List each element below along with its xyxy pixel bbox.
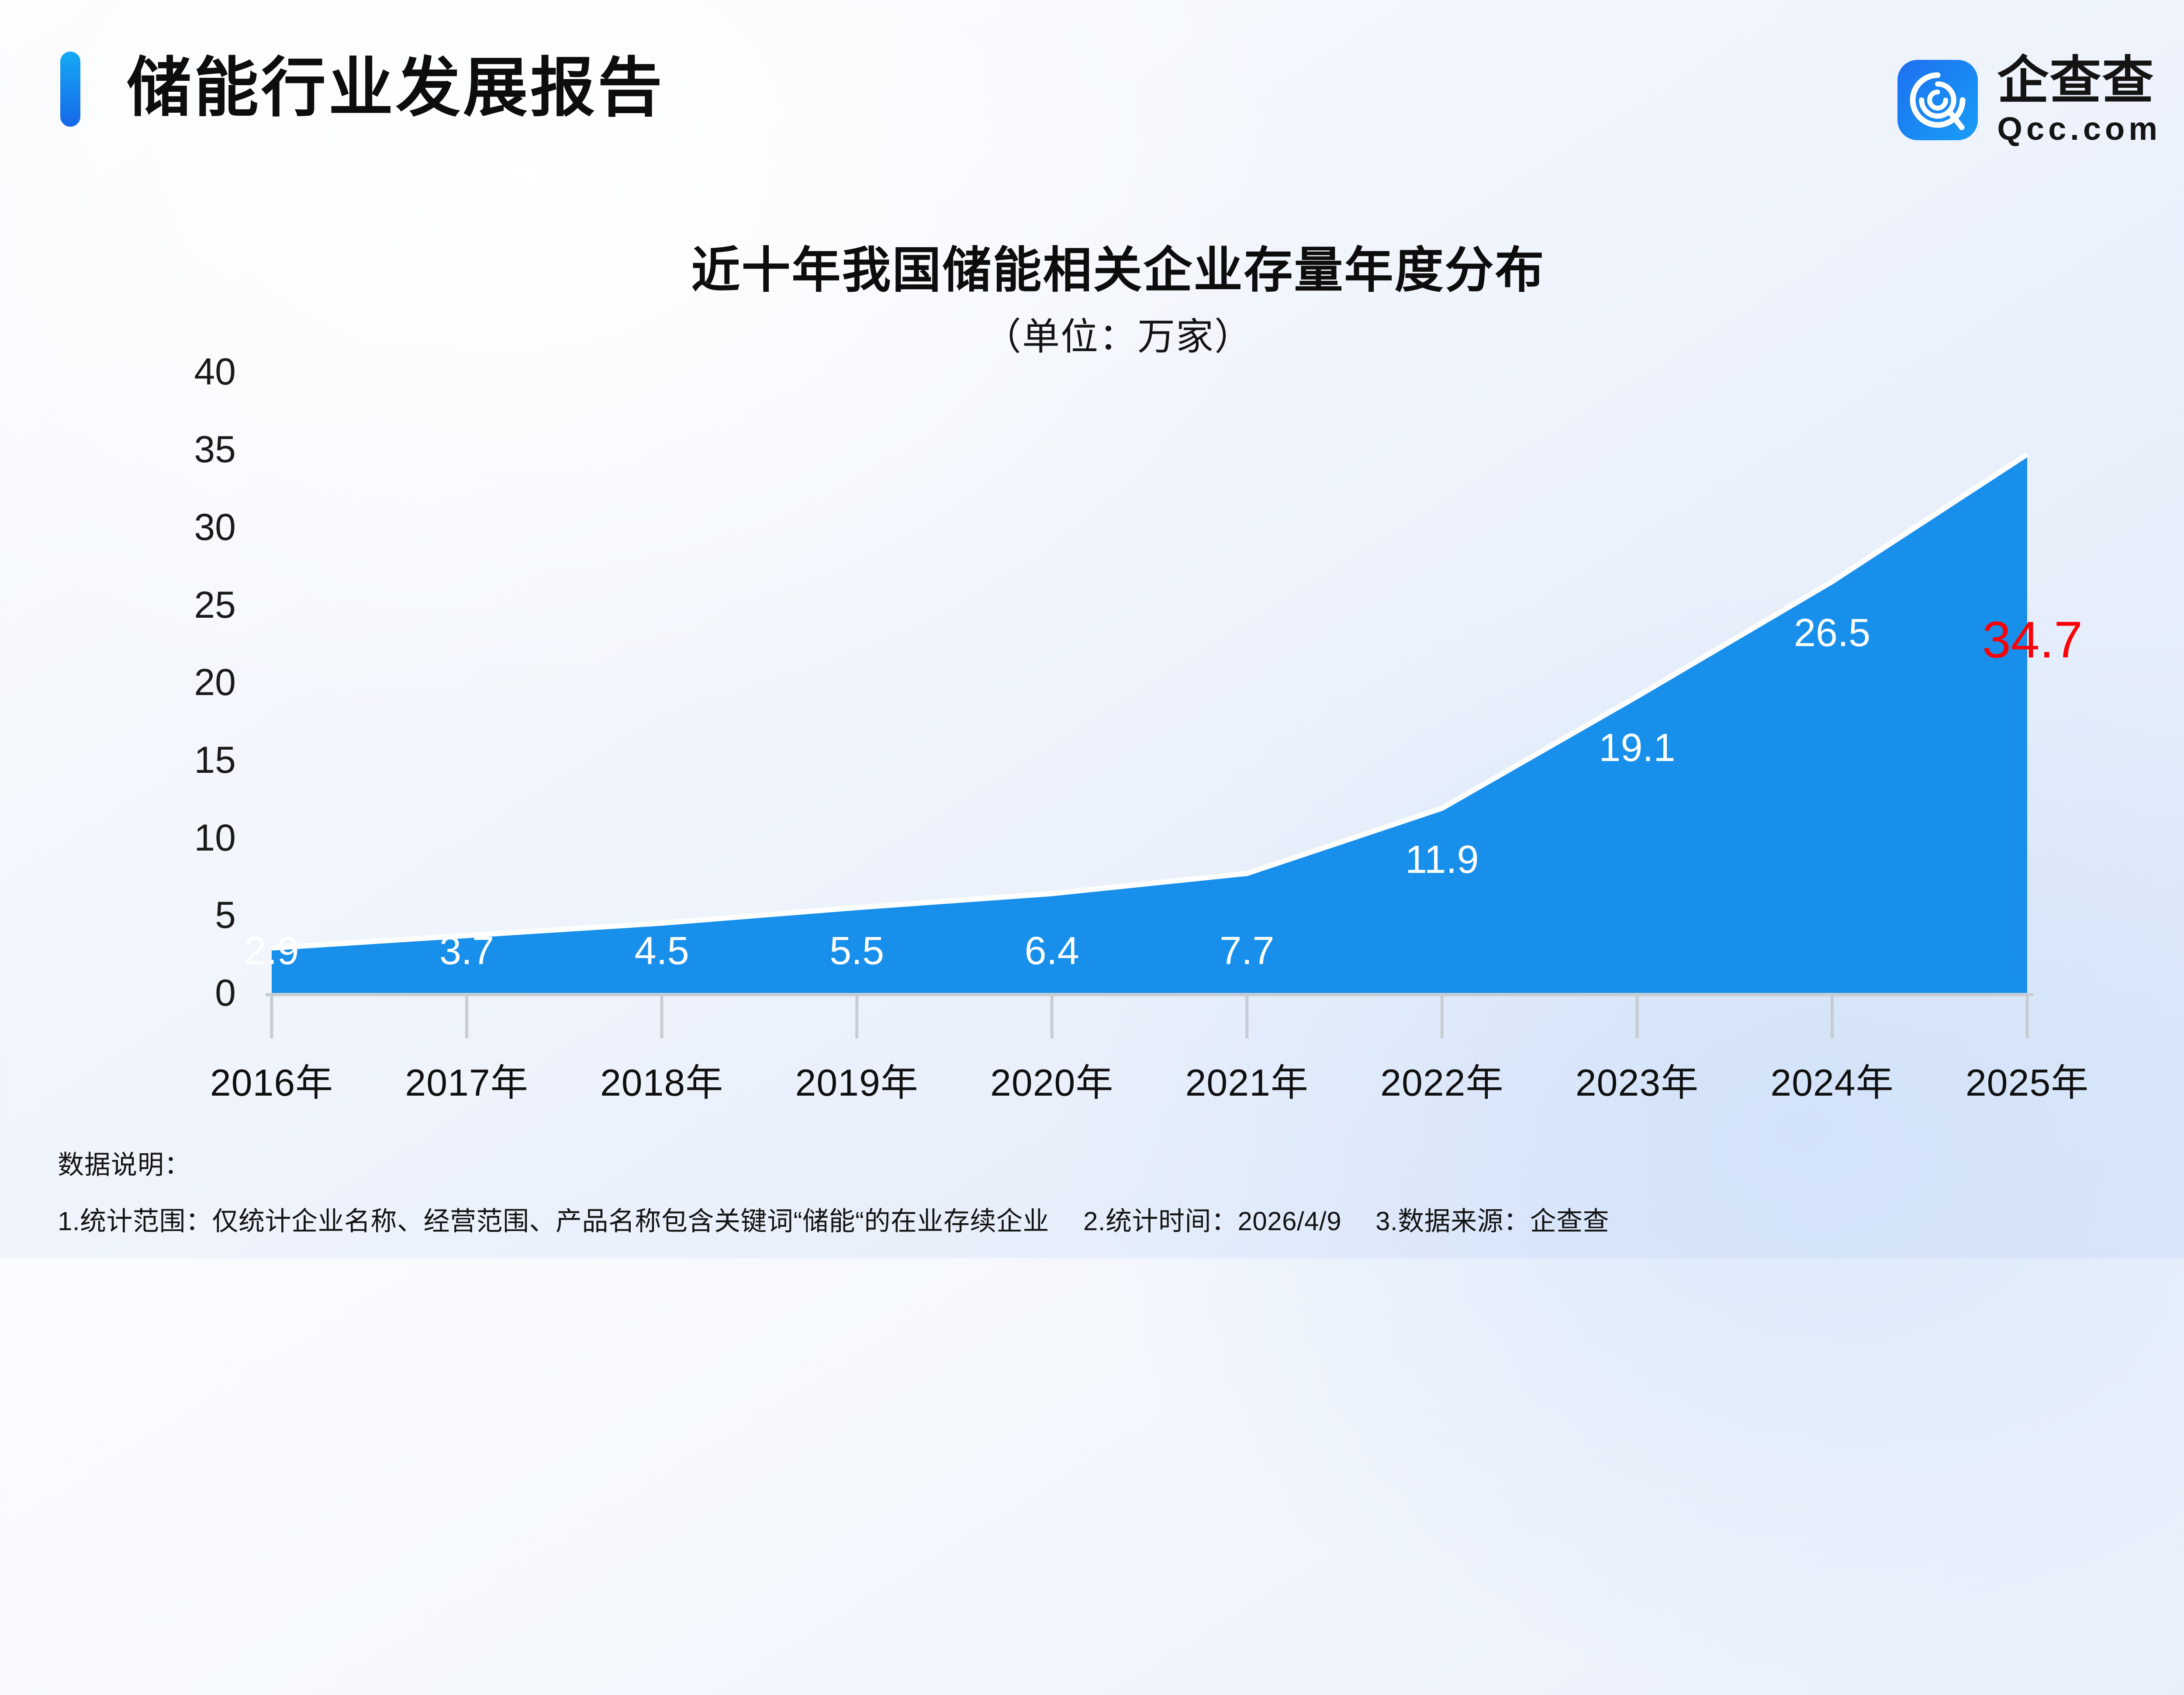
y-axis-tick-label: 25	[135, 586, 236, 624]
data-label: 7.7	[1155, 931, 1339, 971]
area-chart: 0510152025303540 2016年2017年2018年2019年202…	[0, 358, 2184, 1101]
y-axis-tick-label: 0	[135, 974, 236, 1012]
data-label: 5.5	[765, 931, 949, 971]
x-axis-tick-label: 2019年	[757, 1052, 957, 1107]
axis-ticks	[266, 995, 2033, 1038]
x-axis-tick-label: 2025年	[1927, 1052, 2128, 1107]
footer-note-3: 3.数据来源：企查查	[1375, 1207, 1609, 1236]
y-axis-tick-label: 15	[135, 741, 236, 779]
page-title: 储能行业发展报告	[127, 49, 665, 128]
y-axis-tick-label: 20	[135, 664, 236, 701]
logo-cn-name: 企查查	[1997, 55, 2161, 107]
x-axis-tick-label: 2016年	[171, 1052, 372, 1107]
qcc-spiral-icon	[1897, 60, 1978, 140]
data-label: 6.4	[960, 931, 1144, 971]
x-axis-tick-label: 2018年	[561, 1052, 762, 1107]
data-label: 26.5	[1740, 613, 1924, 653]
area-fill	[272, 454, 2027, 993]
footer-heading: 数据说明：	[58, 1144, 2184, 1182]
x-axis-tick-label: 2021年	[1147, 1052, 1348, 1107]
footer-note-1: 1.统计范围：仅统计企业名称、经营范围、产品名称包含关键词“储能“的在业存续企业	[58, 1207, 1049, 1236]
data-label: 19.1	[1545, 728, 1729, 768]
x-axis-tick-label: 2024年	[1731, 1052, 1932, 1107]
x-axis-tick-label: 2022年	[1341, 1052, 1542, 1107]
chart-canvas	[0, 358, 2184, 1101]
data-label-highlight: 34.7	[1919, 614, 2146, 666]
data-label: 2.9	[180, 931, 363, 971]
x-axis-tick-label: 2017年	[366, 1052, 567, 1107]
chart-subtitle: （单位：万家）	[0, 306, 2184, 360]
y-axis-tick-label: 35	[135, 431, 236, 468]
logo-domain: Qcc.com	[1997, 113, 2161, 145]
qcc-logo: 企查查 Qcc.com	[1897, 55, 2161, 145]
report-header: 储能行业发展报告 企查查 Qcc.com	[0, 0, 2184, 183]
y-axis-tick-label: 5	[135, 896, 236, 934]
qcc-logo-text: 企查查 Qcc.com	[1997, 55, 2161, 145]
footer-notes: 数据说明： 1.统计范围：仅统计企业名称、经营范围、产品名称包含关键词“储能“的…	[58, 1144, 2184, 1238]
data-label: 11.9	[1350, 840, 1534, 879]
chart-title: 近十年我国储能相关企业存量年度分布	[0, 231, 2184, 301]
x-axis-tick-marks	[272, 996, 2027, 1038]
y-axis-tick-label: 40	[135, 353, 236, 391]
header-accent-bar	[60, 52, 80, 127]
y-axis-tick-label: 30	[135, 508, 236, 546]
x-axis-tick-label: 2020年	[951, 1052, 1152, 1107]
footer-note-2: 2.统计时间：2026/4/9	[1083, 1207, 1341, 1236]
data-label: 4.5	[570, 931, 753, 971]
footer-note-row: 1.统计范围：仅统计企业名称、经营范围、产品名称包含关键词“储能“的在业存续企业…	[58, 1200, 2184, 1238]
x-axis-tick-label: 2023年	[1537, 1052, 1738, 1107]
y-axis-tick-label: 10	[135, 819, 236, 857]
data-label: 3.7	[375, 931, 559, 971]
